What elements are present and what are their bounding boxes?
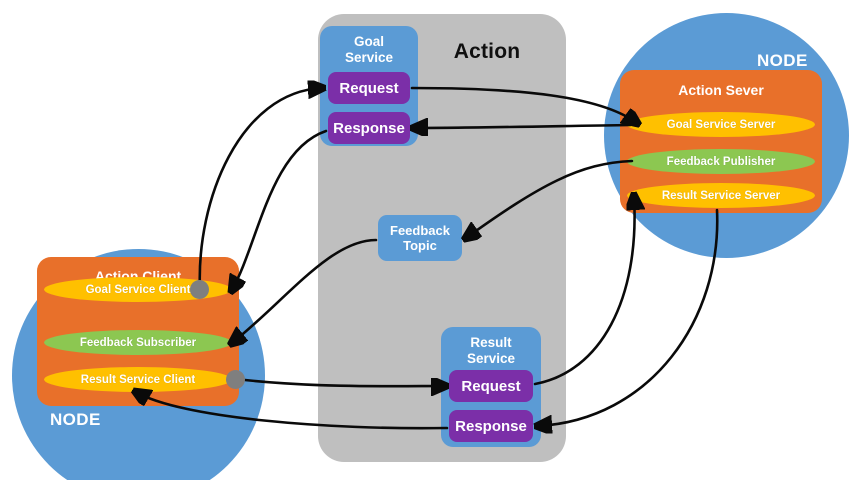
goal-service-request-message[interactable]: Request [328, 72, 410, 104]
client-interface-feedback-subscriber[interactable]: Feedback Subscriber [44, 330, 232, 355]
action-server-title: Action Sever [620, 82, 822, 98]
client-result-connector-dot [226, 370, 245, 389]
client-interface-label: Result Service Client [81, 374, 195, 386]
client-node-label: NODE [50, 410, 101, 430]
action-title: Action [444, 40, 530, 64]
result-service-request-message[interactable]: Request [449, 370, 533, 402]
client-goal-connector-dot [190, 280, 209, 299]
client-interface-result-service-client[interactable]: Result Service Client [44, 367, 232, 392]
arrow-response-to-client-goal [232, 131, 326, 290]
server-node-label: NODE [757, 51, 808, 71]
server-interface-label: Goal Service Server [667, 119, 776, 131]
result-service-request-label: Request [461, 378, 520, 395]
result-service-title: Result Service [441, 335, 541, 367]
server-interface-label: Feedback Publisher [667, 156, 776, 168]
feedback-topic-box[interactable]: Feedback Topic [378, 215, 462, 261]
feedback-topic-label: Feedback Topic [390, 223, 450, 253]
server-interface-result-service-server[interactable]: Result Service Server [627, 183, 815, 208]
goal-service-title: Goal Service [320, 34, 418, 66]
result-service-response-message[interactable]: Response [449, 410, 533, 442]
client-interface-label: Goal Service Client [86, 284, 191, 296]
server-interface-goal-service-server[interactable]: Goal Service Server [627, 112, 815, 137]
server-interface-label: Result Service Server [662, 190, 780, 202]
result-service-response-label: Response [455, 418, 527, 435]
goal-service-request-label: Request [339, 80, 398, 97]
goal-service-response-label: Response [333, 120, 405, 137]
goal-service-response-message[interactable]: Response [328, 112, 410, 144]
client-interface-label: Feedback Subscriber [80, 337, 196, 349]
server-interface-feedback-publisher[interactable]: Feedback Publisher [627, 149, 815, 174]
action-diagram: Action NODE Action Client Goal Service C… [0, 0, 854, 480]
